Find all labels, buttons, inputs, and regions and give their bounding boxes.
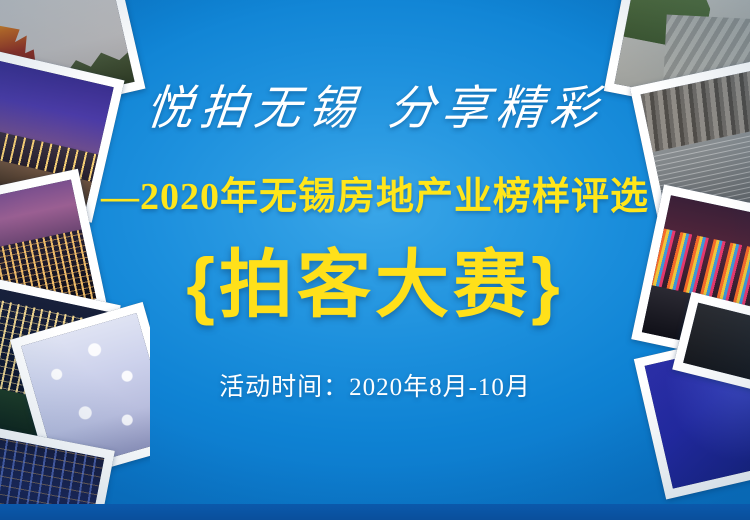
headline-brush: 悦拍无锡分享精彩 — [0, 86, 750, 133]
headline-brush-part2: 分享精彩 — [385, 83, 606, 135]
promo-banner: 悦拍无锡分享精彩 —2020年无锡房地产业榜样评选 {拍客大赛} 活动时间：20… — [0, 0, 750, 520]
headline-brush-part1: 悦拍无锡 — [143, 83, 364, 135]
event-date-line: 活动时间：2020年8月-10月 — [0, 375, 750, 400]
event-subtitle: —2020年无锡房地产业榜样评选 — [0, 178, 750, 216]
bottom-accent-band — [0, 504, 750, 520]
main-title: {拍客大赛} — [0, 248, 750, 322]
